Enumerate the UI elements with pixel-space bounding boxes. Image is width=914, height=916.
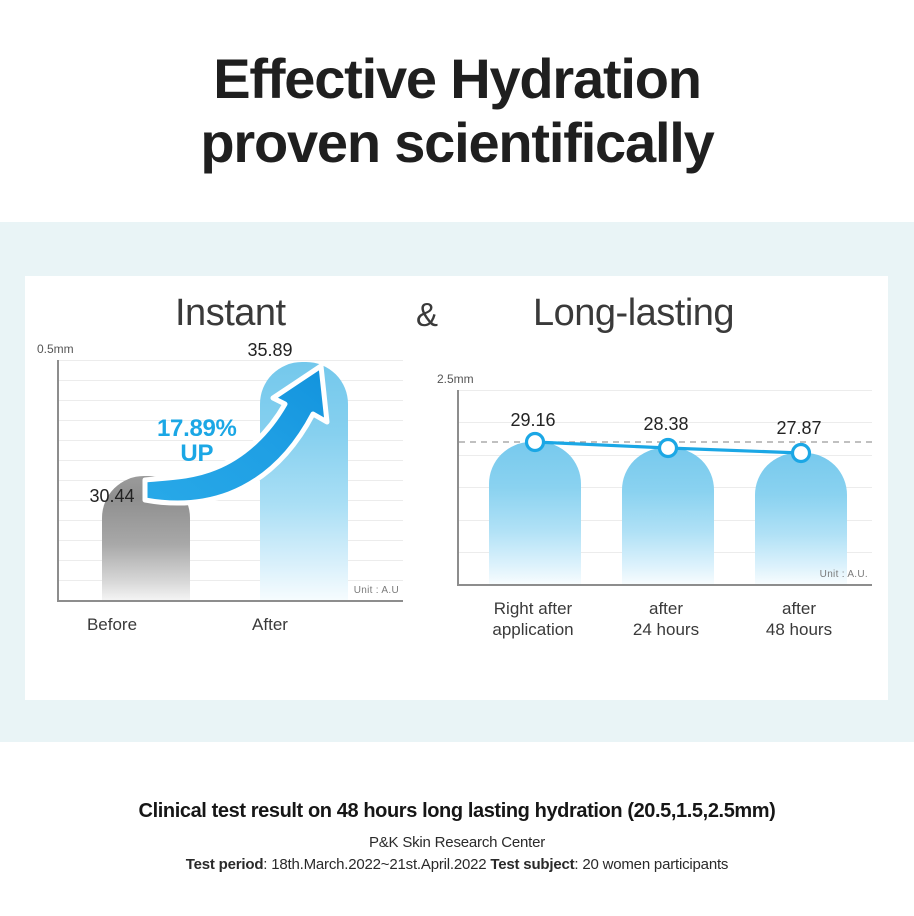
growth-up-label: UP (157, 441, 237, 466)
promo-page: Effective Hydration proven scientificall… (0, 0, 914, 916)
ampersand-separator: & (416, 296, 438, 334)
long-lasting-chart: 2.5mm (425, 372, 880, 702)
footer-main-caption: Clinical test result on 48 hours long la… (139, 800, 776, 823)
instant-chart: 0.5mm (25, 342, 400, 692)
instant-bar-after (260, 362, 348, 600)
page-title: Effective Hydration proven scientificall… (200, 47, 713, 175)
instant-xlabel-after: After (204, 614, 336, 635)
instant-value-before: 30.44 (56, 486, 168, 507)
instant-xlabel-before: Before (46, 614, 178, 635)
footer-test-subject-value: : 20 women participants (574, 856, 728, 873)
long-lasting-xlabel-1-line2: 24 hours (633, 620, 699, 639)
section-title-instant: Instant (175, 292, 286, 335)
charts-card: Instant & Long-lasting 0.5mm (25, 276, 888, 700)
header: Effective Hydration proven scientificall… (0, 0, 914, 222)
instant-plot-area: 17.89% UP Unit : A.U (57, 360, 403, 602)
footer-test-details: Test period: 18th.March.2022~21st.April.… (186, 856, 729, 873)
long-lasting-xlabel-2-line1: after (782, 599, 816, 618)
long-lasting-xlabel-2: after 48 hours (693, 598, 905, 641)
long-lasting-bar-2 (755, 453, 847, 584)
long-lasting-value-0: 29.16 (473, 410, 593, 431)
footer-test-subject-label: Test subject (490, 856, 574, 873)
footer-test-period-label: Test period (186, 856, 264, 873)
footer-test-period-value: : 18th.March.2022~21st.April.2022 (263, 856, 486, 873)
charts-band: Instant & Long-lasting 0.5mm (0, 222, 914, 742)
footer-research-center: P&K Skin Research Center (369, 834, 545, 851)
long-lasting-unit-note: Unit : A.U. (820, 569, 868, 580)
page-title-line1: Effective Hydration (213, 47, 701, 110)
long-lasting-axis-top-label: 2.5mm (437, 372, 474, 386)
instant-unit-note: Unit : A.U (354, 585, 399, 596)
long-lasting-value-1: 28.38 (606, 414, 726, 435)
footer: Clinical test result on 48 hours long la… (0, 742, 914, 916)
section-headings: Instant & Long-lasting (25, 292, 888, 346)
section-title-long-lasting: Long-lasting (533, 292, 734, 335)
long-lasting-xlabel-1-line1: after (649, 599, 683, 618)
instant-axis-top-label: 0.5mm (37, 342, 74, 356)
growth-percent: 17.89% (157, 415, 237, 442)
page-title-line2: proven scientifically (200, 111, 713, 175)
long-lasting-bar-1 (622, 448, 714, 584)
long-lasting-xlabel-2-line2: 48 hours (766, 620, 832, 639)
instant-value-after: 35.89 (214, 340, 326, 361)
long-lasting-bar-0 (489, 442, 581, 584)
growth-callout: 17.89% UP (157, 416, 237, 466)
long-lasting-value-2: 27.87 (739, 418, 859, 439)
